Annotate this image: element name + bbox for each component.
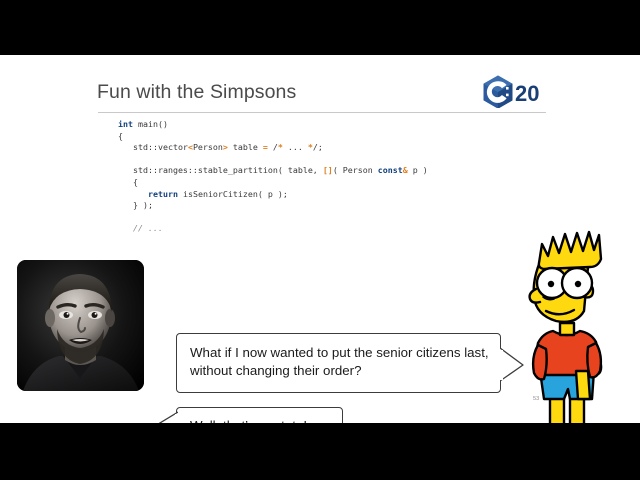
code-token: / (268, 142, 278, 152)
code-line: std::ranges::stable_partition( table, []… (118, 165, 428, 177)
code-token: // ... (118, 223, 163, 233)
code-token: { (118, 131, 123, 141)
code-token: isSeniorCitizen( p ); (178, 189, 288, 199)
page-title: Fun with the Simpsons (97, 81, 296, 104)
speech-bubble-question: What if I now wanted to put the senior c… (176, 333, 501, 393)
code-token: return (148, 189, 178, 199)
cpp-hexagon-icon (484, 76, 513, 109)
speech-bubble-answer: Well, that’s a rotate! (176, 407, 343, 423)
slide-number: 53 (533, 396, 539, 402)
code-token: int (118, 119, 133, 129)
code-line: { (118, 177, 428, 189)
code-line (118, 212, 428, 224)
code-token: { (118, 177, 138, 187)
code-line: { (118, 131, 428, 143)
presentation-slide: Fun with the Simpsons 20 int main(){ std… (0, 55, 640, 423)
code-token: /; (313, 142, 323, 152)
speech-bubble-question-text: What if I now wanted to put the senior c… (190, 344, 490, 379)
code-token: std::vector (118, 142, 188, 152)
speaker-portrait (17, 260, 144, 391)
code-line: int main() (118, 119, 428, 131)
code-token: table (228, 142, 263, 152)
code-line: std::vector<Person> table = /* ... */; (118, 142, 428, 154)
code-line: // ... (118, 223, 428, 235)
code-token: main() (133, 119, 168, 129)
code-block: int main(){ std::vector<Person> table = … (118, 119, 428, 235)
code-token: Person (193, 142, 223, 152)
bart-simpson-character (498, 223, 630, 423)
code-token: std::ranges::stable_partition( table, (118, 165, 323, 175)
code-token: } ); (118, 200, 153, 210)
code-line: return isSeniorCitizen( p ); (118, 189, 428, 201)
code-token: ( Person (333, 165, 378, 175)
video-frame: Fun with the Simpsons 20 int main(){ std… (0, 0, 640, 480)
code-token: [] (323, 165, 333, 175)
speech-bubble-answer-text: Well, that’s a rotate! (190, 417, 340, 423)
code-token: const (378, 165, 403, 175)
code-token: p ) (408, 165, 428, 175)
speech-bubble-tail-left (154, 411, 178, 423)
cpp20-logo: 20 (481, 74, 547, 108)
cpp-version-label: 20 (515, 81, 539, 106)
title-divider (98, 112, 546, 113)
code-token (118, 189, 148, 199)
code-token: ... (283, 142, 308, 152)
code-line: } ); (118, 200, 428, 212)
code-line (118, 154, 428, 166)
